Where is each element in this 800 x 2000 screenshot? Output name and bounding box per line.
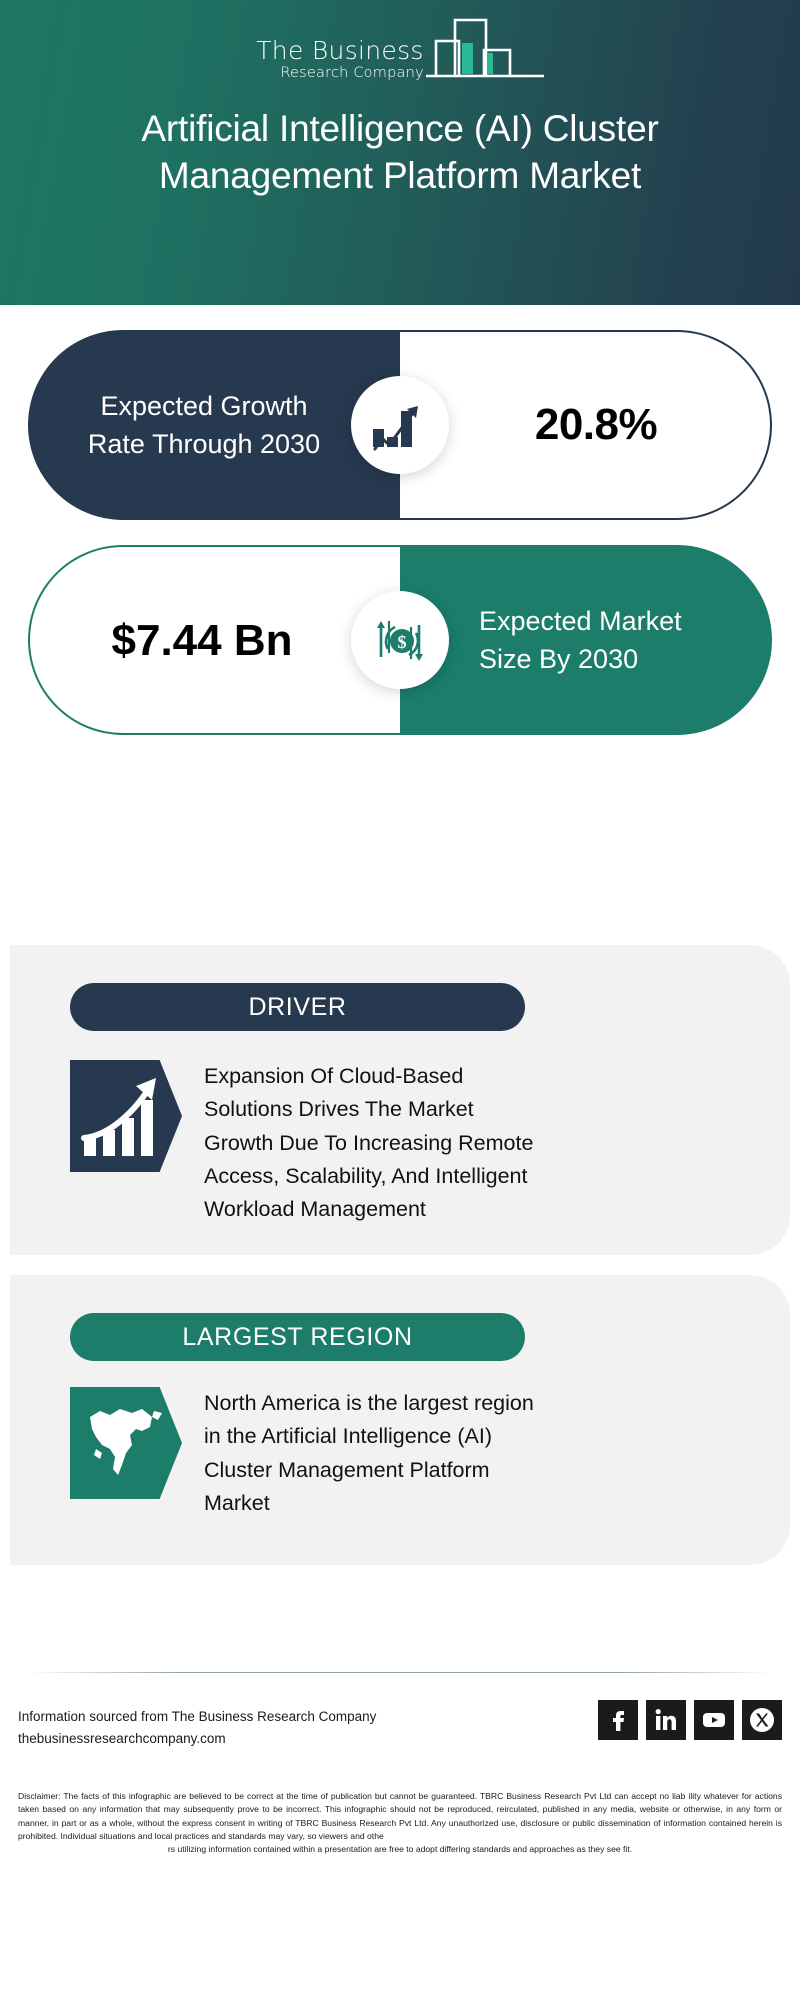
tbrc-logo: The Business Research Company (256, 22, 544, 84)
dollar-cycle-icon: $ (351, 591, 449, 689)
largest-region-body: North America is the largest region in t… (70, 1387, 544, 1520)
youtube-icon[interactable] (694, 1700, 734, 1740)
logo-wordmark: The Business Research Company (256, 38, 424, 85)
market-size-label: Expected Market Size By 2030 (479, 602, 719, 679)
stat-cards-zone: Expected Growth Rate Through 2030 20.8% … (0, 305, 800, 730)
facebook-icon[interactable] (598, 1700, 638, 1740)
growth-chart-arrow-icon (351, 376, 449, 474)
page-title: Artificial Intelligence (AI) Cluster Man… (80, 106, 720, 199)
market-size-value-side: $7.44 Bn (28, 545, 400, 735)
disclaimer-line-5: rs utilizing information contained withi… (18, 1843, 782, 1856)
bar-chart-logo-icon (426, 17, 544, 84)
panel-largest-region: LARGEST REGION North America is the larg… (10, 1275, 790, 1565)
driver-text: Expansion Of Cloud-Based Solutions Drive… (204, 1060, 544, 1227)
disclaimer-text: Disclaimer: The facts of this infographi… (18, 1790, 782, 1857)
footer-source-line-2[interactable]: thebusinessresearchcompany.com (18, 1728, 376, 1750)
disclaimer-line-1: Disclaimer: The facts of this infographi… (18, 1791, 685, 1801)
largest-region-pill: LARGEST REGION (70, 1313, 525, 1361)
svg-text:$: $ (398, 632, 407, 652)
market-size-label-side: Expected Market Size By 2030 (400, 545, 772, 735)
market-size-value: $7.44 Bn (87, 613, 317, 668)
linkedin-icon[interactable] (646, 1700, 686, 1740)
social-links[interactable] (598, 1700, 782, 1740)
stat-card-market-size: $7.44 Bn Expected Market Size By 2030 $ (28, 545, 772, 735)
logo-line-1: The Business (256, 38, 424, 63)
footer-source: Information sourced from The Business Re… (18, 1706, 376, 1750)
driver-body: Expansion Of Cloud-Based Solutions Drive… (70, 1060, 544, 1227)
largest-region-pill-label: LARGEST REGION (182, 1323, 412, 1352)
growth-rate-label-side: Expected Growth Rate Through 2030 (28, 330, 400, 520)
largest-region-text: North America is the largest region in t… (204, 1387, 544, 1520)
logo-line-2: Research Company (256, 66, 424, 81)
growth-rate-value: 20.8% (535, 400, 657, 450)
driver-pill: DRIVER (70, 983, 525, 1031)
growth-rate-label: Expected Growth Rate Through 2030 (74, 387, 334, 464)
footer-divider (28, 1672, 772, 1673)
growth-rate-value-side: 20.8% (400, 330, 772, 520)
panel-driver: DRIVER Expansion Of Cloud-Based Solution… (10, 945, 790, 1255)
driver-pill-label: DRIVER (248, 993, 346, 1022)
growth-bars-arrow-icon (70, 1060, 182, 1172)
header-banner: The Business Research Company Artificial… (0, 0, 800, 305)
north-america-map-icon (70, 1387, 182, 1499)
x-twitter-icon[interactable] (742, 1700, 782, 1740)
stat-card-growth-rate: Expected Growth Rate Through 2030 20.8% (28, 330, 772, 520)
footer-source-line-1: Information sourced from The Business Re… (18, 1706, 376, 1728)
